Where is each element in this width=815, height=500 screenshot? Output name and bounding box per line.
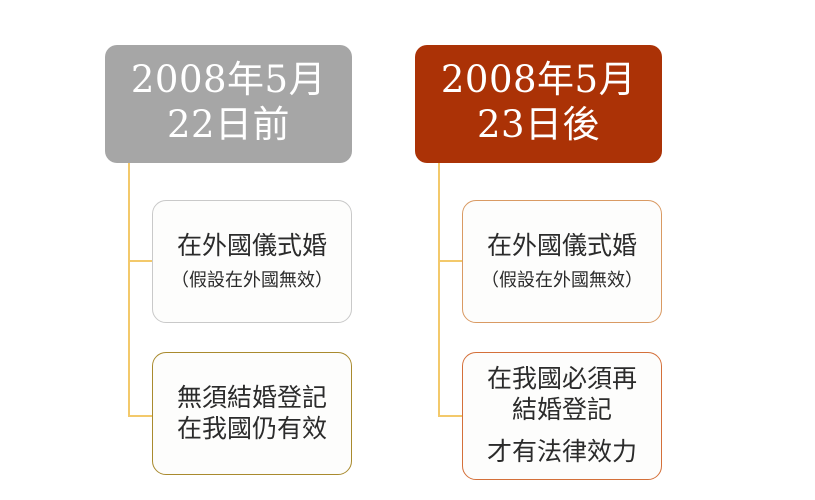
node-left-2-main: 無須結婚登記 在我國仍有效 [177,383,327,444]
connector-branch-right-1 [438,260,464,262]
header-box-after[interactable]: 2008年5月 23日後 [415,45,662,163]
diagram-canvas: 2008年5月 22日前 在外國儀式婚 （假設在外國無效） 無須結婚登記 在我國… [0,0,815,500]
header-box-before[interactable]: 2008年5月 22日前 [105,45,352,163]
connector-branch-left-2 [128,415,154,417]
connector-branch-right-2 [438,415,464,417]
connector-vertical-left [128,163,130,417]
node-box-right-2[interactable]: 在我國必須再 結婚登記 才有法律效力 [462,352,662,480]
node-box-left-2[interactable]: 無須結婚登記 在我國仍有效 [152,352,352,475]
node-right-2-main: 在我國必須再 結婚登記 [487,364,637,425]
node-right-1-main: 在外國儀式婚 [487,231,637,262]
node-left-1-main: 在外國儀式婚 [177,231,327,262]
node-right-1-sub: （假設在外國無效） [481,269,643,292]
connector-branch-left-1 [128,260,154,262]
header-label-before: 2008年5月 22日前 [131,57,326,147]
node-left-1-sub: （假設在外國無效） [171,269,333,292]
node-right-2-tail: 才有法律效力 [487,437,637,468]
header-label-after: 2008年5月 23日後 [441,57,636,147]
node-box-left-1[interactable]: 在外國儀式婚 （假設在外國無效） [152,200,352,323]
connector-vertical-right [438,163,440,417]
node-box-right-1[interactable]: 在外國儀式婚 （假設在外國無效） [462,200,662,323]
